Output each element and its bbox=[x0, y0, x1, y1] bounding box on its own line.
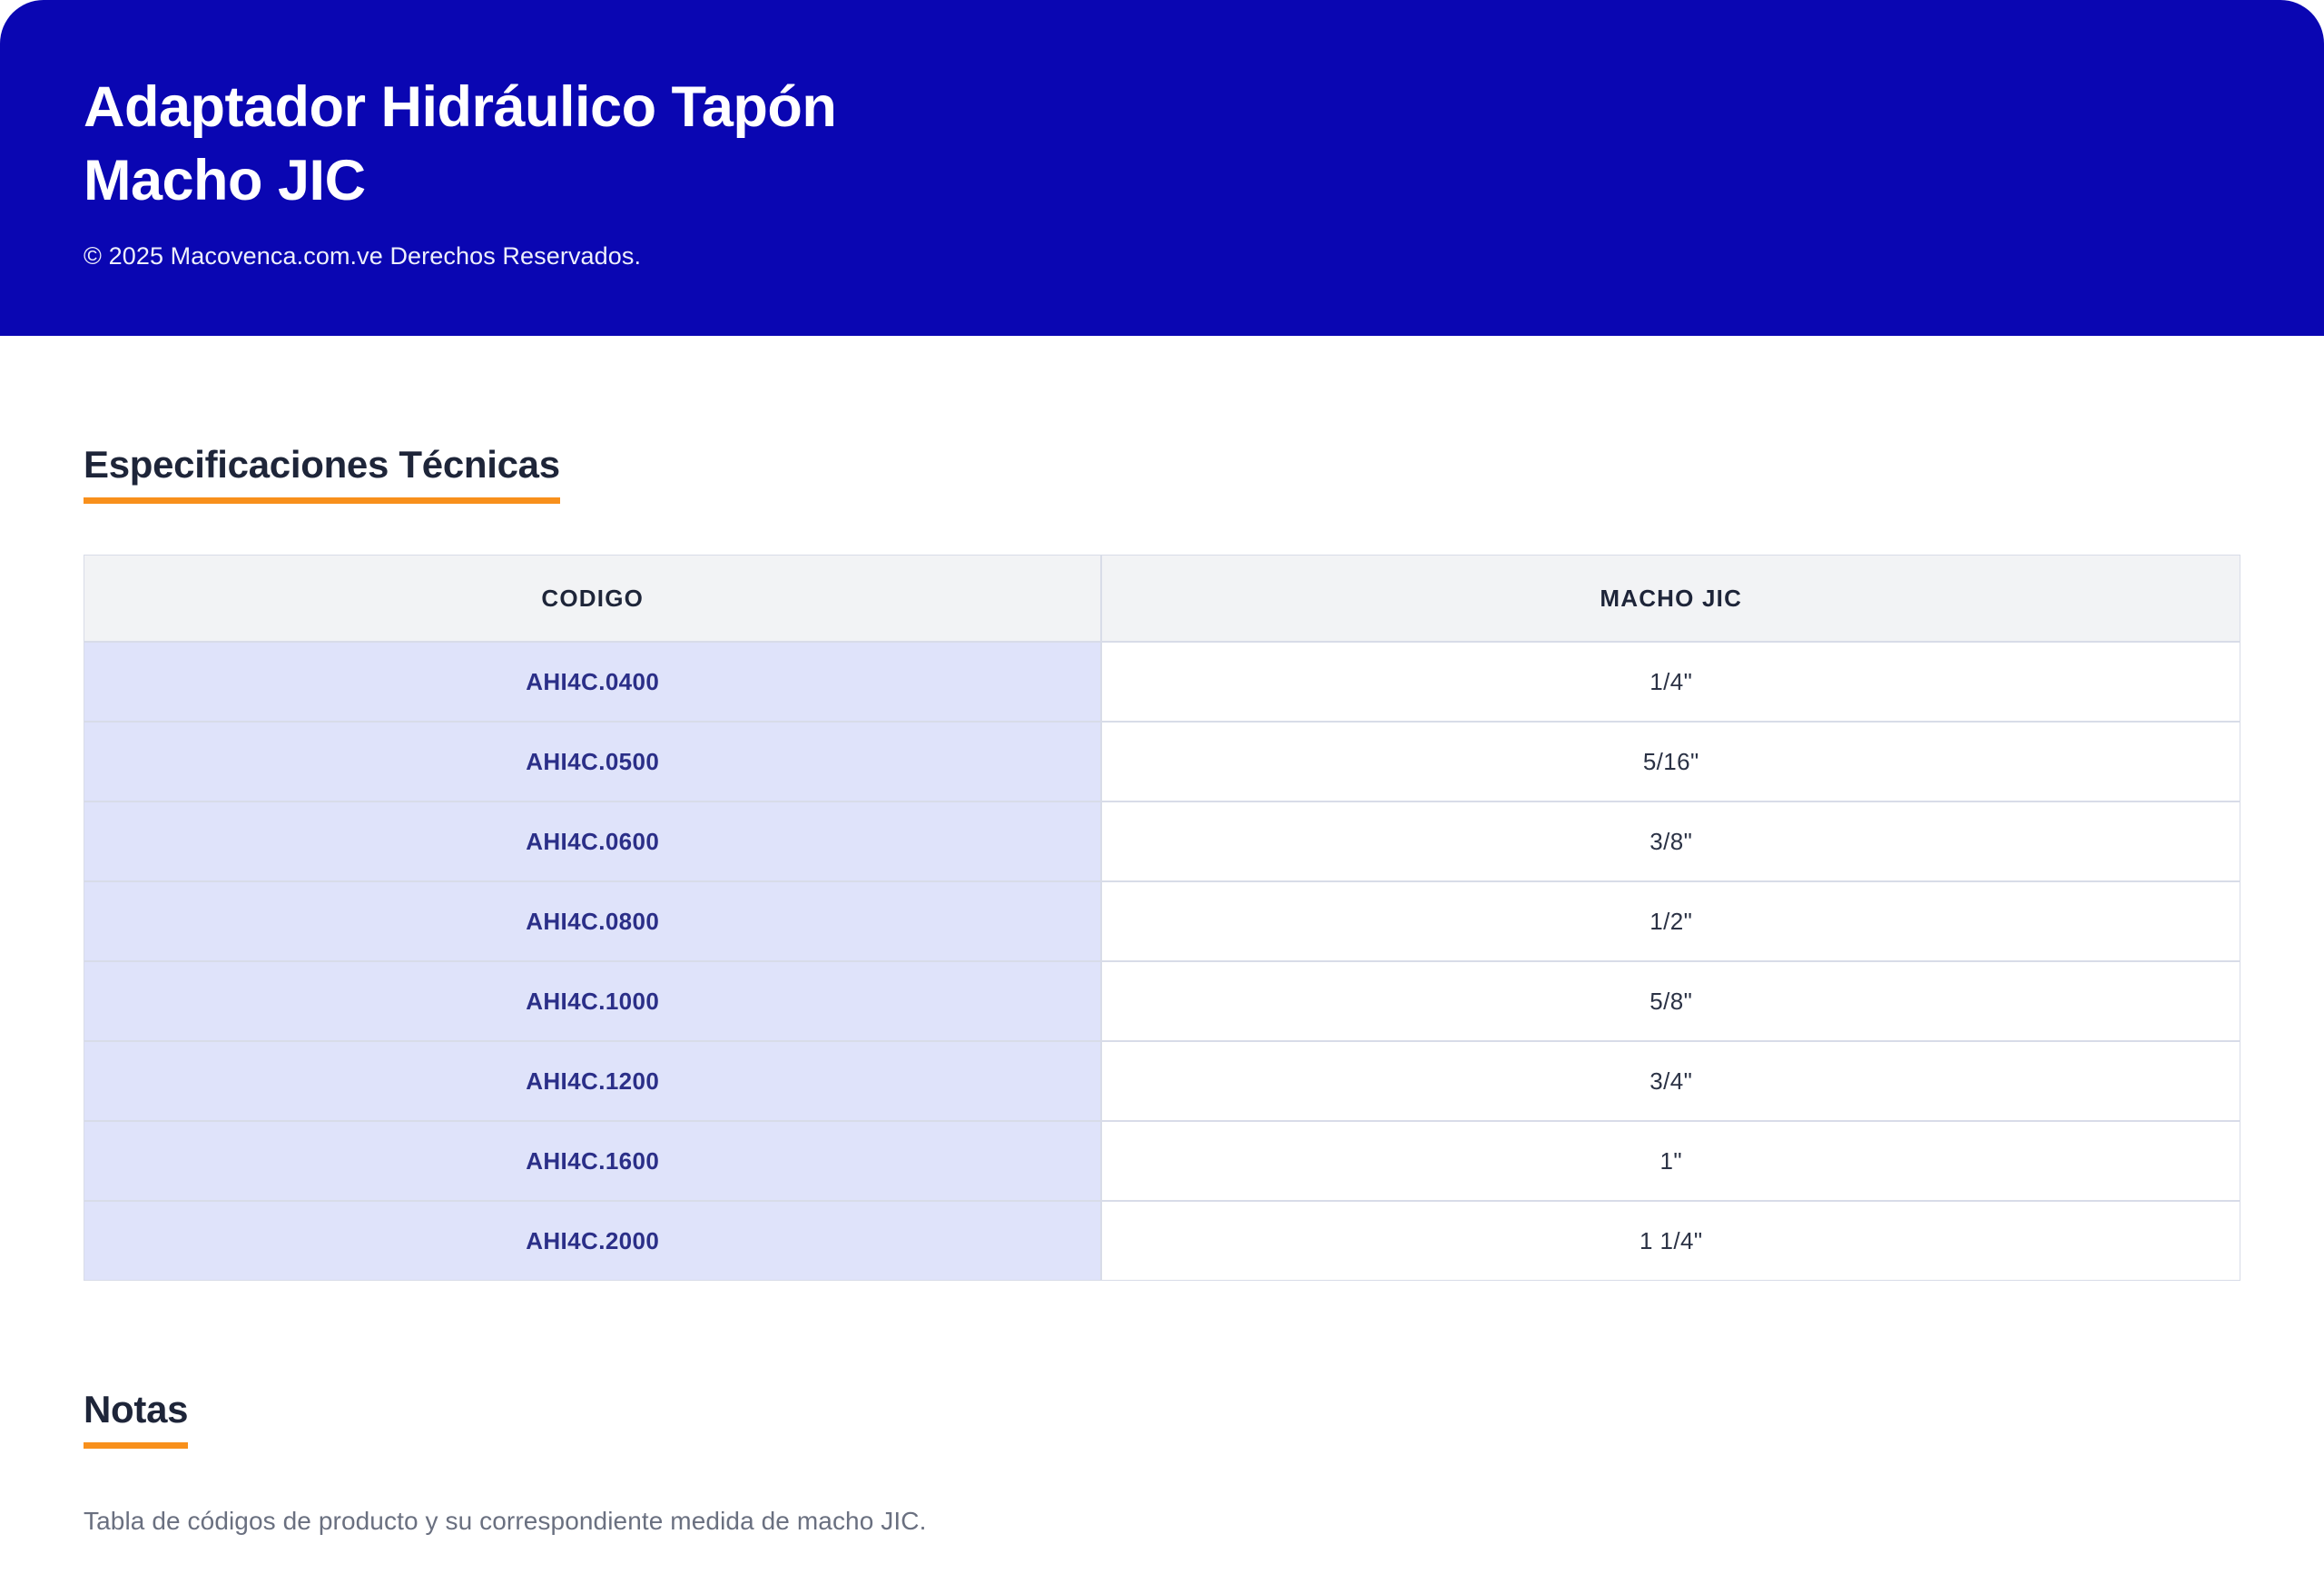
column-header-codigo: CODIGO bbox=[84, 555, 1101, 642]
cell-macho-jic: 3/8" bbox=[1101, 801, 2240, 881]
cell-codigo: AHI4C.1000 bbox=[84, 961, 1101, 1041]
page-body: Especificaciones Técnicas CODIGO MACHO J… bbox=[0, 336, 2324, 1536]
page-title-line-1: Adaptador Hidráulico Tapón bbox=[84, 71, 1445, 144]
product-spec-page: Adaptador Hidráulico Tapón Macho JIC © 2… bbox=[0, 0, 2324, 1593]
cell-codigo: AHI4C.2000 bbox=[84, 1201, 1101, 1281]
cell-codigo: AHI4C.1200 bbox=[84, 1041, 1101, 1121]
cell-macho-jic: 1/2" bbox=[1101, 881, 2240, 961]
cell-macho-jic: 3/4" bbox=[1101, 1041, 2240, 1121]
notes-section: Notas Tabla de códigos de producto y su … bbox=[84, 1388, 2240, 1536]
page-title-line-2: Macho JIC bbox=[84, 144, 1445, 218]
section-heading-specifications: Especificaciones Técnicas bbox=[84, 443, 560, 504]
specifications-table: CODIGO MACHO JIC AHI4C.0400 1/4" AHI4C.0… bbox=[84, 555, 2240, 1281]
cell-macho-jic: 1/4" bbox=[1101, 642, 2240, 722]
cell-codigo: AHI4C.1600 bbox=[84, 1121, 1101, 1201]
section-heading-notes: Notas bbox=[84, 1388, 188, 1449]
cell-codigo: AHI4C.0500 bbox=[84, 722, 1101, 801]
table-row: AHI4C.1200 3/4" bbox=[84, 1041, 2240, 1121]
copyright-notice: © 2025 Macovenca.com.ve Derechos Reserva… bbox=[84, 242, 2240, 270]
cell-macho-jic: 1" bbox=[1101, 1121, 2240, 1201]
page-title: Adaptador Hidráulico Tapón Macho JIC bbox=[84, 71, 1445, 217]
cell-macho-jic: 5/8" bbox=[1101, 961, 2240, 1041]
table-row: AHI4C.0600 3/8" bbox=[84, 801, 2240, 881]
table-row: AHI4C.0400 1/4" bbox=[84, 642, 2240, 722]
notes-text: Tabla de códigos de producto y su corres… bbox=[84, 1507, 2240, 1536]
cell-codigo: AHI4C.0800 bbox=[84, 881, 1101, 961]
table-head: CODIGO MACHO JIC bbox=[84, 555, 2240, 642]
table-row: AHI4C.0800 1/2" bbox=[84, 881, 2240, 961]
cell-codigo: AHI4C.0400 bbox=[84, 642, 1101, 722]
table-row: AHI4C.1000 5/8" bbox=[84, 961, 2240, 1041]
table-row: AHI4C.1600 1" bbox=[84, 1121, 2240, 1201]
table-row: AHI4C.2000 1 1/4" bbox=[84, 1201, 2240, 1281]
page-header-banner: Adaptador Hidráulico Tapón Macho JIC © 2… bbox=[0, 0, 2324, 336]
cell-macho-jic: 1 1/4" bbox=[1101, 1201, 2240, 1281]
table-header-row: CODIGO MACHO JIC bbox=[84, 555, 2240, 642]
table-row: AHI4C.0500 5/16" bbox=[84, 722, 2240, 801]
column-header-macho-jic: MACHO JIC bbox=[1101, 555, 2240, 642]
cell-codigo: AHI4C.0600 bbox=[84, 801, 1101, 881]
cell-macho-jic: 5/16" bbox=[1101, 722, 2240, 801]
table-body: AHI4C.0400 1/4" AHI4C.0500 5/16" AHI4C.0… bbox=[84, 642, 2240, 1281]
